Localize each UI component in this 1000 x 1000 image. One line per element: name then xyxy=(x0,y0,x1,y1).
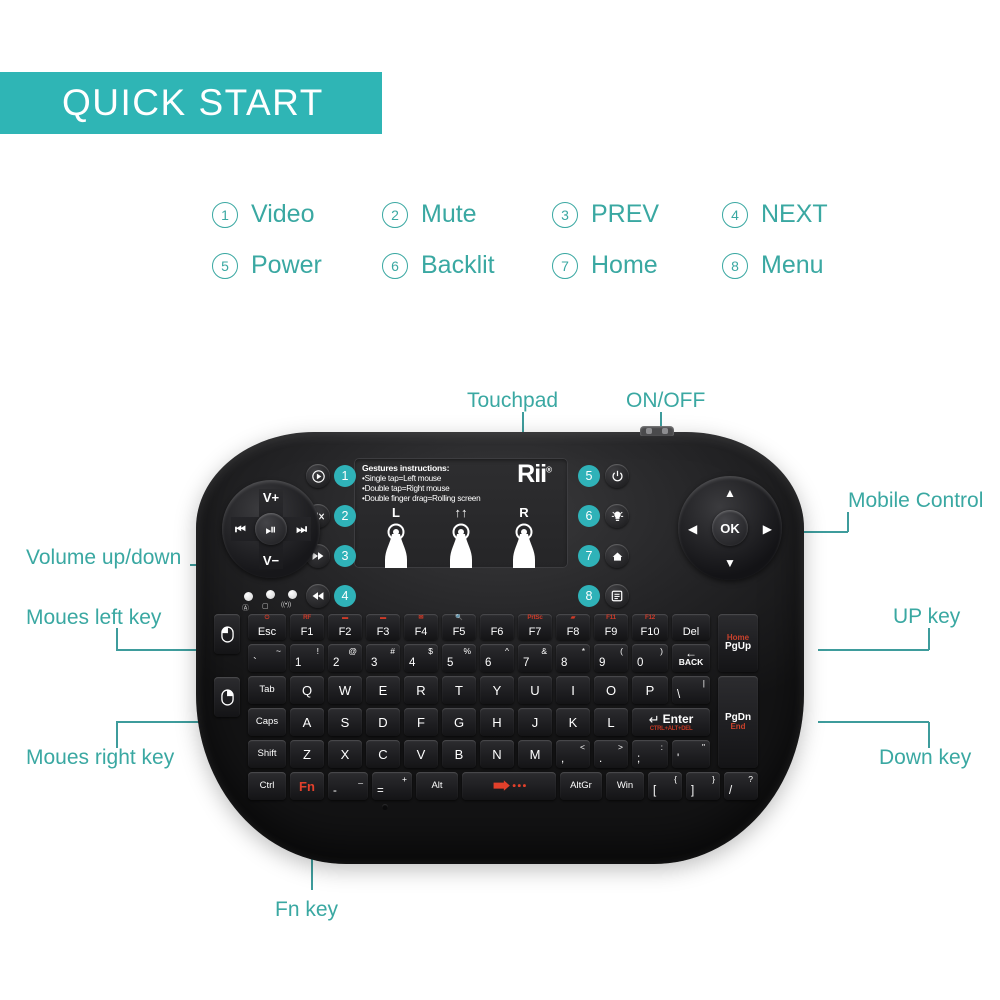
legend-item-backlit: 6 Backlit xyxy=(382,251,552,280)
callout-mouse-right: Moues right key xyxy=(26,746,174,770)
callout-fn-key: Fn key xyxy=(275,898,338,922)
key-period-base: . xyxy=(599,754,602,766)
key-esc-label: Esc xyxy=(258,627,276,638)
page-title: QUICK START xyxy=(0,82,324,124)
key-6-base: 6 xyxy=(485,658,491,670)
previous-track-button[interactable]: ⏮ xyxy=(235,522,246,537)
key-m[interactable]: M xyxy=(518,740,552,768)
touchpad-left-hint: L xyxy=(378,505,414,568)
key-p[interactable]: P xyxy=(632,676,668,704)
video-icon xyxy=(312,470,325,483)
key-f8[interactable]: ▰ F8 xyxy=(556,614,590,640)
key-f10[interactable]: F12 F10 xyxy=(632,614,668,640)
legend-label: PREV xyxy=(591,200,659,229)
key-backtick-base: ` xyxy=(253,658,257,670)
key-2-shifted: @ xyxy=(348,647,357,656)
key-7-shifted: & xyxy=(541,647,547,656)
key-backtick[interactable]: ~ ` xyxy=(248,644,286,672)
badge-7: 7 xyxy=(578,545,600,567)
callout-onoff: ON/OFF xyxy=(626,389,705,413)
key-9[interactable]: ( 9 xyxy=(594,644,628,672)
key-s-label: S xyxy=(341,716,350,729)
key-4-shifted: $ xyxy=(428,647,433,656)
key-backslash[interactable]: | \ xyxy=(672,676,710,704)
leader-up-key-h xyxy=(818,649,929,651)
key-f4-sub: ✉ xyxy=(404,615,438,621)
key-f5-label: F5 xyxy=(453,627,466,638)
key-n[interactable]: N xyxy=(480,740,514,768)
key-alt-label: Alt xyxy=(431,781,442,791)
key-esc-sub: ⏻ xyxy=(248,615,286,621)
key-2-base: 2 xyxy=(333,658,339,670)
key-pgup-label: PgUp xyxy=(725,642,751,652)
badge-4: 4 xyxy=(334,585,356,607)
key-8-base: 8 xyxy=(561,658,567,670)
key-9-shifted: ( xyxy=(620,647,623,656)
leader-mobile-control-v xyxy=(847,512,849,532)
key-i[interactable]: I xyxy=(556,676,590,704)
battery-led-icon: ▢ xyxy=(262,602,269,610)
legend-number: 4 xyxy=(722,202,748,228)
legend-item-home: 7 Home xyxy=(552,251,722,280)
next-button[interactable] xyxy=(306,584,330,608)
key-capslock[interactable]: Caps xyxy=(248,708,286,736)
legend-number: 8 xyxy=(722,253,748,279)
backlit-button[interactable] xyxy=(605,504,629,528)
dpad-up-button[interactable]: ▲ xyxy=(678,486,782,500)
key-f9[interactable]: F11 F9 xyxy=(594,614,628,640)
key-1[interactable]: ! 1 xyxy=(290,644,324,672)
menu-button[interactable] xyxy=(605,584,629,608)
caps-lock-led-icon: Ⓐ xyxy=(242,603,249,613)
key-j-label: J xyxy=(532,716,539,729)
legend-item-menu: 8 Menu xyxy=(722,251,892,280)
key-f10-label: F10 xyxy=(641,627,660,638)
key-bracket-left-shifted: { xyxy=(674,775,677,784)
key-3-shifted: # xyxy=(390,647,395,656)
key-bracket-right-shifted: } xyxy=(712,775,715,784)
key-fn[interactable]: Fn xyxy=(290,772,324,800)
legend-number: 6 xyxy=(382,253,408,279)
key-semicolon-shifted: : xyxy=(661,743,663,752)
key-u-label: U xyxy=(530,684,539,697)
key-7[interactable]: & 7 xyxy=(518,644,552,672)
key-7-base: 7 xyxy=(523,658,529,670)
key-b-label: B xyxy=(455,748,464,761)
dpad-down-button[interactable]: ▼ xyxy=(678,556,782,570)
key-tab[interactable]: Tab xyxy=(248,676,286,704)
video-button[interactable] xyxy=(306,464,330,488)
key-alt[interactable]: Alt xyxy=(416,772,458,800)
key-f5[interactable]: 🔍 F5 xyxy=(442,614,476,640)
key-enter-label: Enter xyxy=(663,713,694,725)
callout-mobile-control: Mobile Control xyxy=(848,489,983,513)
two-finger-drag-icon xyxy=(446,520,476,568)
key-fn-label: Fn xyxy=(299,780,315,793)
key-semicolon[interactable]: : ; xyxy=(632,740,668,768)
key-del[interactable]: Del xyxy=(672,614,710,640)
key-b[interactable]: B xyxy=(442,740,476,768)
rii-logo: Rii® xyxy=(517,462,551,487)
leader-down-key-h xyxy=(818,721,929,723)
badge-1: 1 xyxy=(334,465,356,487)
badge-5: 5 xyxy=(578,465,600,487)
scroll-label: ↑↑ xyxy=(443,505,479,520)
key-1-shifted: ! xyxy=(317,647,319,656)
legend-label: Home xyxy=(591,251,658,280)
key-capslock-label: Caps xyxy=(256,717,278,727)
key-f7-label: F7 xyxy=(529,627,542,638)
mouse-left-icon xyxy=(221,626,234,643)
key-3-base: 3 xyxy=(371,658,377,670)
key-f3-sub: ▬ xyxy=(366,615,400,621)
mobile-control-dpad[interactable]: ▲ ▼ ◀ ▶ OK xyxy=(678,476,782,580)
mini-keyboard: Gestures instructions: •Single tap=Left … xyxy=(196,432,804,864)
key-equals-base: = xyxy=(377,786,384,798)
legend-number: 7 xyxy=(552,253,578,279)
dpad-right-button[interactable]: ▶ xyxy=(763,522,772,536)
media-dpad[interactable]: V+ V− ⏮ ⏭ ⏯ xyxy=(222,480,320,578)
key-m-label: M xyxy=(530,748,541,761)
registered-mark: ® xyxy=(546,466,551,475)
key-j[interactable]: J xyxy=(518,708,552,736)
key-i-label: I xyxy=(571,684,575,697)
key-tab-label: Tab xyxy=(259,685,274,695)
key-minus-shifted: _ xyxy=(358,775,363,784)
legend-label: Mute xyxy=(421,200,477,229)
key-f5-sub: 🔍 xyxy=(442,615,476,621)
key-minus-base: - xyxy=(333,786,337,798)
key-backspace-label: BACK xyxy=(679,658,704,667)
badge-8: 8 xyxy=(578,585,600,607)
gesture-line: •Double finger drag=Rolling screen xyxy=(362,494,568,503)
key-4-base: 4 xyxy=(409,658,415,670)
key-ctrl-label: Ctrl xyxy=(260,781,275,791)
key-ctrl[interactable]: Ctrl xyxy=(248,772,286,800)
key-0[interactable]: ) 0 xyxy=(632,644,668,672)
key-l[interactable]: L xyxy=(594,708,628,736)
key-del-label: Del xyxy=(683,627,700,638)
key-pgdn-end[interactable]: PgDn End xyxy=(718,676,758,768)
key-5-shifted: % xyxy=(463,647,471,656)
key-shift-label: Shift xyxy=(257,749,276,759)
wireless-led xyxy=(288,590,297,599)
key-0-base: 0 xyxy=(637,658,643,670)
legend-label: NEXT xyxy=(761,200,828,229)
key-s[interactable]: S xyxy=(328,708,362,736)
menu-icon xyxy=(611,590,623,602)
key-bracket-right-base: ] xyxy=(691,786,694,798)
key-f1[interactable]: RF F1 xyxy=(290,614,324,640)
legend-number: 2 xyxy=(382,202,408,228)
key-f3[interactable]: ▬ F3 xyxy=(366,614,400,640)
key-p-label: P xyxy=(646,684,655,697)
legend-number: 1 xyxy=(212,202,238,228)
mouse-right-icon xyxy=(221,689,234,706)
legend-item-mute: 2 Mute xyxy=(382,200,552,229)
key-o[interactable]: O xyxy=(594,676,628,704)
key-f3-label: F3 xyxy=(377,627,390,638)
legend-item-next: 4 NEXT xyxy=(722,200,892,229)
key-r-label: R xyxy=(416,684,425,697)
leader-mouse-left-v xyxy=(116,628,118,650)
key-4[interactable]: $ 4 xyxy=(404,644,438,672)
key-f2[interactable]: ▬ F2 xyxy=(328,614,362,640)
mouse-right-key[interactable] xyxy=(214,677,240,717)
key-backtick-shifted: ~ xyxy=(276,647,281,656)
key-f4-label: F4 xyxy=(415,627,428,638)
key-l-label: L xyxy=(607,716,614,729)
key-f6[interactable]: F6 xyxy=(480,614,514,640)
key-k[interactable]: K xyxy=(556,708,590,736)
legend-row: 1 Video 2 Mute 3 PREV 4 NEXT xyxy=(212,200,892,229)
key-h[interactable]: H xyxy=(480,708,514,736)
key-slash-base: / xyxy=(729,786,732,798)
left-click-label: L xyxy=(378,505,414,520)
play-pause-icon: ⏯ xyxy=(265,521,276,538)
rii-wordmark: Rii xyxy=(517,460,546,488)
key-g[interactable]: G xyxy=(442,708,476,736)
key-w-label: W xyxy=(339,684,351,697)
key-1-base: 1 xyxy=(295,658,301,670)
microphone-hole xyxy=(382,804,388,810)
callout-mouse-left: Moues left key xyxy=(26,606,161,630)
key-esc[interactable]: ⏻ Esc xyxy=(248,614,286,640)
wireless-led-icon: ((•)) xyxy=(281,602,291,608)
legend-number: 5 xyxy=(212,253,238,279)
legend-number: 3 xyxy=(552,202,578,228)
key-comma-base: , xyxy=(561,754,564,766)
callout-volume: Volume up/down xyxy=(26,546,181,570)
key-equals[interactable]: + = xyxy=(372,772,412,800)
key-period[interactable]: > . xyxy=(594,740,628,768)
right-click-label: R xyxy=(506,505,542,520)
key-o-label: O xyxy=(606,684,616,697)
rewind-icon xyxy=(311,590,325,602)
key-t-label: T xyxy=(455,684,463,697)
key-backslash-base: \ xyxy=(677,690,680,702)
key-u[interactable]: U xyxy=(518,676,552,704)
key-quote-base: ' xyxy=(677,754,679,766)
legend: 1 Video 2 Mute 3 PREV 4 NEXT 5 Power 6 B… xyxy=(212,200,892,302)
key-v[interactable]: V xyxy=(404,740,438,768)
key-equals-shifted: + xyxy=(402,775,407,784)
power-icon xyxy=(611,470,624,483)
touchpad[interactable]: Gestures instructions: •Single tap=Left … xyxy=(354,458,568,568)
leader-mouse-right-v xyxy=(116,722,118,748)
key-f7[interactable]: PrtSc F7 xyxy=(518,614,552,640)
key-f-label: F xyxy=(417,716,425,729)
key-c-label: C xyxy=(378,748,387,761)
key-6[interactable]: ^ 6 xyxy=(480,644,514,672)
key-shift[interactable]: Shift xyxy=(248,740,286,768)
home-icon xyxy=(611,550,624,563)
key-a-label: A xyxy=(303,716,312,729)
key-y[interactable]: Y xyxy=(480,676,514,704)
key-f2-label: F2 xyxy=(339,627,352,638)
touchpad-right-hint: R xyxy=(506,505,542,568)
key-e[interactable]: E xyxy=(366,676,400,704)
key-z-label: Z xyxy=(303,748,311,761)
key-slash[interactable]: ? / xyxy=(724,772,758,800)
badge-3: 3 xyxy=(334,545,356,567)
key-altgr[interactable]: AltGr xyxy=(560,772,602,800)
key-d-label: D xyxy=(378,716,387,729)
space-arrow-icon xyxy=(491,780,527,792)
key-win-label: Win xyxy=(617,781,633,791)
key-f9-label: F9 xyxy=(605,627,618,638)
legend-item-video: 1 Video xyxy=(212,200,382,229)
key-8-shifted: * xyxy=(582,647,585,656)
key-5-base: 5 xyxy=(447,658,453,670)
leader-down-key-v xyxy=(928,722,930,748)
key-q-label: Q xyxy=(302,684,312,697)
callout-down-key: Down key xyxy=(879,746,971,770)
key-semicolon-base: ; xyxy=(637,754,640,766)
caps-lock-led xyxy=(244,592,253,601)
key-f6-label: F6 xyxy=(491,627,504,638)
power-switch[interactable] xyxy=(640,426,674,436)
key-period-shifted: > xyxy=(618,743,623,752)
dpad-left-button[interactable]: ◀ xyxy=(688,522,697,536)
next-track-button[interactable]: ⏭ xyxy=(296,522,307,537)
key-f10-sub: F12 xyxy=(632,615,668,621)
key-home-pgup[interactable]: Home PgUp xyxy=(718,614,758,672)
key-9-base: 9 xyxy=(599,658,605,670)
key-a[interactable]: A xyxy=(290,708,324,736)
key-w[interactable]: W xyxy=(328,676,362,704)
key-t[interactable]: T xyxy=(442,676,476,704)
callout-up-key: UP key xyxy=(893,605,960,629)
key-win[interactable]: Win xyxy=(606,772,644,800)
key-backslash-shifted: | xyxy=(703,679,705,688)
power-button[interactable] xyxy=(605,464,629,488)
key-enter[interactable]: ↵ Enter CTRL+ALT+DEL xyxy=(632,708,710,736)
key-c[interactable]: C xyxy=(366,740,400,768)
key-f9-sub: F11 xyxy=(594,615,628,621)
key-f1-label: F1 xyxy=(301,627,314,638)
key-k-label: K xyxy=(569,716,578,729)
key-f2-sub: ▬ xyxy=(328,615,362,621)
key-slash-shifted: ? xyxy=(748,775,753,784)
legend-item-power: 5 Power xyxy=(212,251,382,280)
key-bracket-left[interactable]: { [ xyxy=(648,772,682,800)
key-g-label: G xyxy=(454,716,464,729)
legend-label: Menu xyxy=(761,251,824,280)
home-button[interactable] xyxy=(605,544,629,568)
key-d[interactable]: D xyxy=(366,708,400,736)
legend-label: Backlit xyxy=(421,251,495,280)
badge-2: 2 xyxy=(334,505,356,527)
play-pause-button[interactable]: ⏯ xyxy=(255,513,287,545)
legend-label: Video xyxy=(251,200,315,229)
key-space[interactable] xyxy=(462,772,556,800)
legend-label: Power xyxy=(251,251,322,280)
callout-touchpad: Touchpad xyxy=(467,389,558,413)
key-enter-sub: CTRL+ALT+DEL xyxy=(650,726,693,732)
touchpad-scroll-hint: ↑↑ xyxy=(443,505,479,568)
key-altgr-label: AltGr xyxy=(570,781,592,791)
key-0-shifted: ) xyxy=(660,647,663,656)
key-comma[interactable]: < , xyxy=(556,740,590,768)
legend-item-prev: 3 PREV xyxy=(552,200,722,229)
mouse-left-key[interactable] xyxy=(214,614,240,654)
key-backspace[interactable]: ← BACK xyxy=(672,644,710,672)
key-bracket-right[interactable]: } ] xyxy=(686,772,720,800)
volume-down-label[interactable]: V− xyxy=(222,553,320,568)
key-f8-sub: ▰ xyxy=(556,615,590,621)
badge-6: 6 xyxy=(578,505,600,527)
key-quote-shifted: " xyxy=(702,743,705,752)
lightbulb-icon xyxy=(611,509,624,523)
key-f4[interactable]: ✉ F4 xyxy=(404,614,438,640)
key-h-label: H xyxy=(492,716,501,729)
key-f1-sub: RF xyxy=(290,615,324,621)
key-2[interactable]: @ 2 xyxy=(328,644,362,672)
key-8[interactable]: * 8 xyxy=(556,644,590,672)
key-6-shifted: ^ xyxy=(505,647,509,656)
key-quote[interactable]: " ' xyxy=(672,740,710,768)
key-bracket-left-base: [ xyxy=(653,786,656,798)
key-comma-shifted: < xyxy=(580,743,585,752)
key-5[interactable]: % 5 xyxy=(442,644,476,672)
key-z[interactable]: Z xyxy=(290,740,324,768)
key-f8-label: F8 xyxy=(567,627,580,638)
key-n-label: N xyxy=(492,748,501,761)
ok-button[interactable]: OK xyxy=(712,510,748,546)
key-v-label: V xyxy=(417,748,426,761)
volume-up-label[interactable]: V+ xyxy=(222,490,320,505)
key-x-label: X xyxy=(341,748,350,761)
key-x[interactable]: X xyxy=(328,740,362,768)
key-f[interactable]: F xyxy=(404,708,438,736)
key-3[interactable]: # 3 xyxy=(366,644,400,672)
key-f7-sub: PrtSc xyxy=(518,615,552,621)
quick-start-banner: QUICK START xyxy=(0,72,382,134)
key-q[interactable]: Q xyxy=(290,676,324,704)
key-e-label: E xyxy=(379,684,388,697)
key-end-label: End xyxy=(730,723,745,731)
leader-up-key-v xyxy=(928,628,930,650)
finger-double-tap-icon xyxy=(509,520,539,568)
legend-row: 5 Power 6 Backlit 7 Home 8 Menu xyxy=(212,251,892,280)
key-y-label: Y xyxy=(493,684,502,697)
battery-led xyxy=(266,590,275,599)
enter-arrow-icon: ↵ xyxy=(649,713,660,726)
finger-tap-icon xyxy=(381,520,411,568)
key-minus[interactable]: _ - xyxy=(328,772,368,800)
key-r[interactable]: R xyxy=(404,676,438,704)
